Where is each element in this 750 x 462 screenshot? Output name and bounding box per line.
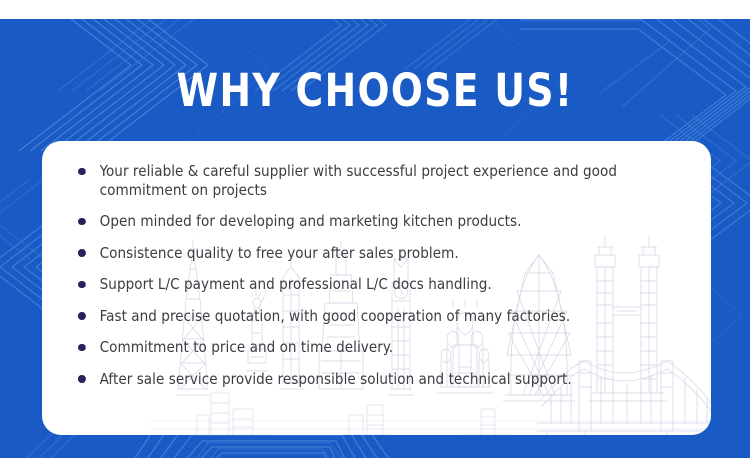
list-item-label: Commitment to price and on time delivery… xyxy=(100,338,394,356)
list-item: Consistence quality to free your after s… xyxy=(76,244,672,263)
list-item-label: Open minded for developing and marketing… xyxy=(100,212,522,230)
list-item: Your reliable & careful supplier with su… xyxy=(76,162,672,200)
page-title: WHY CHOOSE US! xyxy=(26,65,724,117)
bullet-dot-icon xyxy=(78,168,85,176)
list-item: Commitment to price and on time delivery… xyxy=(76,338,672,357)
benefits-card: Your reliable & careful supplier with su… xyxy=(42,141,711,435)
benefits-list: Your reliable & careful supplier with su… xyxy=(42,141,711,435)
bullet-dot-icon xyxy=(78,249,85,257)
blue-banner-background: WHY CHOOSE US! xyxy=(0,19,750,458)
bullet-dot-icon xyxy=(78,344,85,352)
bullet-dot-icon xyxy=(78,218,85,226)
list-item: After sale service provide responsible s… xyxy=(76,370,672,389)
list-item-label: Consistence quality to free your after s… xyxy=(100,244,459,262)
list-item-label: After sale service provide responsible s… xyxy=(100,370,572,388)
bullet-dot-icon xyxy=(78,375,85,383)
list-item: Support L/C payment and professional L/C… xyxy=(76,275,672,294)
list-item-label: Fast and precise quotation, with good co… xyxy=(100,307,571,325)
bullet-dot-icon xyxy=(78,312,85,320)
list-item-label: Your reliable & careful supplier with su… xyxy=(100,162,617,199)
promo-banner-image: WHY CHOOSE US! xyxy=(0,0,750,462)
list-item-label: Support L/C payment and professional L/C… xyxy=(100,275,492,293)
bullet-dot-icon xyxy=(78,281,85,289)
list-item: Fast and precise quotation, with good co… xyxy=(76,307,672,326)
list-item: Open minded for developing and marketing… xyxy=(76,212,672,231)
